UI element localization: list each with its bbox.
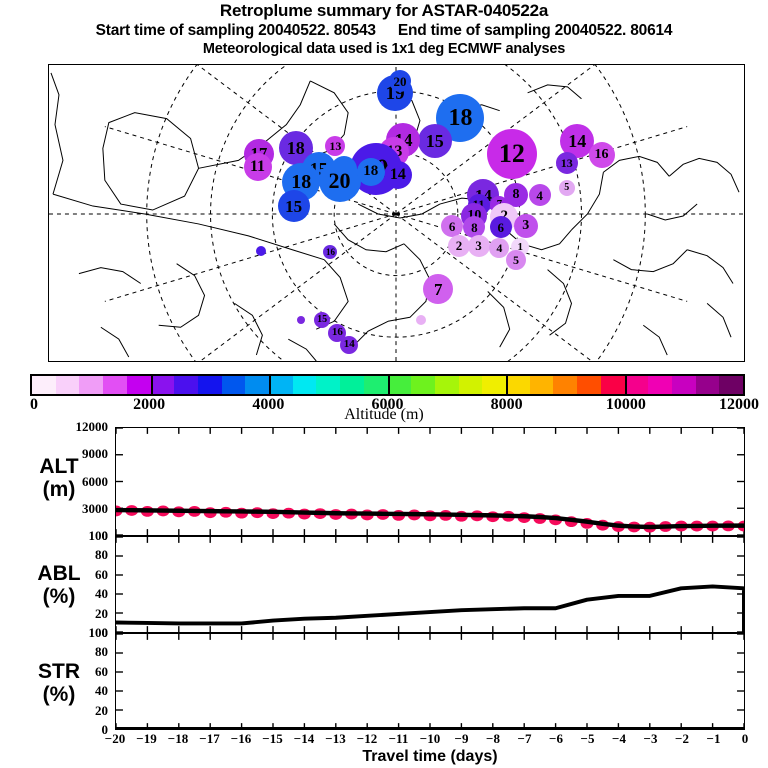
retroplume-bubble: 14 [340,336,358,354]
retroplume-bubble-label: 15 [285,198,302,215]
retroplume-bubble-label: 14 [344,339,355,350]
retroplume-bubble: 3 [514,214,538,238]
retroplume-bubble: 15 [314,312,330,328]
x-tick-label: −3 [644,731,658,747]
x-tick-label: −11 [389,731,409,747]
x-tick-label: −18 [168,731,188,747]
x-tick-label: −9 [455,731,469,747]
retroplume-bubble-label: 16 [326,248,335,257]
retroplume-bubble: 13 [325,136,345,156]
colorbar-segment [245,376,269,394]
colorbar-divider [269,376,271,394]
retroplume-bubble: 15 [418,124,452,158]
colorbar-segment [340,376,364,394]
retroplume-bubble: 11 [244,153,272,181]
sampling-time-line: Start time of sampling 20040522. 80543En… [0,21,768,40]
colorbar-axis-title: Altitude (m) [0,406,768,424]
colorbar-segment [553,376,577,394]
retroplume-bubble: 16 [589,142,615,168]
retroplume-bubble: 18 [357,158,385,186]
x-tick-label: −7 [518,731,532,747]
retroplume-bubble: 15 [278,190,310,222]
x-tick-label: −8 [486,731,500,747]
colorbar-segment [269,376,293,394]
abl-timeseries-plot[interactable] [115,536,745,633]
y-tick-label: 0 [48,722,108,738]
retroplume-bubble-label: 8 [513,188,520,202]
str-timeseries-plot[interactable] [115,633,745,730]
y-tick-label: 9000 [48,446,108,462]
retroplume-bubble-label: 4 [496,242,502,254]
colorbar-segment [293,376,317,394]
retroplume-bubble: 7 [423,274,453,304]
retroplume-bubble-label: 8 [471,221,478,234]
x-axis-title: Travel time (days) [115,748,745,766]
start-time-label: Start time of sampling 20040522. 80543 [96,22,376,39]
retroplume-bubble-label: 16 [595,148,609,162]
colorbar-segment [435,376,459,394]
y-tick-label: 80 [48,644,108,660]
retroplume-bubble: 6 [490,216,512,238]
retroplume-bubble-label: 13 [561,157,573,169]
figure-title: Retroplume summary for ASTAR-040522a [0,0,768,21]
x-tick-label: −2 [675,731,689,747]
retroplume-bubble [416,315,426,325]
colorbar-segment [459,376,483,394]
retroplume-bubble-label: 13 [329,140,341,152]
colorbar-segment [696,376,720,394]
meteorology-label: Meteorological data used is 1x1 deg ECMW… [0,40,768,58]
retroplume-bubble: 12 [487,129,537,179]
y-tick-label: 6000 [48,474,108,490]
colorbar-segment [127,376,151,394]
colorbar-segment [56,376,80,394]
x-tick-label: −12 [357,731,377,747]
retroplume-bubble: 5 [559,180,575,196]
x-tick-label: −13 [325,731,345,747]
retroplume-bubble: 16 [323,245,337,259]
colorbar-segment [530,376,554,394]
retroplume-bubble-label: 15 [426,132,444,150]
retroplume-bubble-label: 20 [329,170,351,192]
retroplume-bubble: 4 [529,184,551,206]
y-tick-label: 80 [48,547,108,563]
colorbar-segment [482,376,506,394]
colorbar-segment [672,376,696,394]
figure-header: Retroplume summary for ASTAR-040522a Sta… [0,0,768,58]
retroplume-bubble-label: 7 [434,281,443,298]
retroplume-bubble-label: 15 [317,315,327,325]
retroplume-bubble: 20 [319,160,361,202]
retroplume-bubble-label: 14 [568,132,586,150]
colorbar-segment [103,376,127,394]
x-tick-label: −15 [262,731,282,747]
retroplume-bubble-label: 6 [449,220,456,233]
colorbar-segment [364,376,388,394]
retroplume-bubble-label: 11 [250,159,265,175]
x-tick-label: −5 [581,731,595,747]
y-tick-label: 12000 [48,419,108,435]
colorbar-divider [388,376,390,394]
y-tick-label: 20 [48,703,108,719]
retroplume-bubble: 13 [556,152,578,174]
x-tick-label: −6 [549,731,563,747]
colorbar-segment [648,376,672,394]
colorbar-divider [625,376,627,394]
retroplume-bubble-label: 14 [390,167,406,183]
colorbar-segment [388,376,412,394]
retroplume-bubble: 3 [468,235,490,257]
colorbar-divider [506,376,508,394]
colorbar-segment [719,376,743,394]
colorbar-segment [625,376,649,394]
retroplume-bubble [297,316,305,324]
x-tick-label: −10 [420,731,440,747]
y-tick-label: 60 [48,664,108,680]
colorbar-segment [411,376,435,394]
colorbar-segment [32,376,56,394]
retroplume-bubble-label: 16 [332,327,343,338]
retroplume-bubble: 5 [506,250,526,270]
x-tick-label: 0 [742,731,749,747]
colorbar-segment [151,376,175,394]
y-tick-label: 20 [48,606,108,622]
retroplume-bubble-label: 5 [564,183,569,193]
x-tick-label: −4 [612,731,626,747]
retroplume-bubble-label: 5 [513,254,519,266]
retroplume-bubble-label: 18 [363,164,378,179]
colorbar-segment [198,376,222,394]
retroplume-bubble: 14 [384,161,412,189]
retroplume-map[interactable]: 1920181514131214161318131711201414845117… [48,64,745,362]
colorbar-segment [79,376,103,394]
retroplume-bubble: 20 [389,70,411,92]
retroplume-bubble-label: 18 [291,172,311,192]
y-tick-label: 60 [48,567,108,583]
retroplume-bubble-label: 18 [448,106,472,130]
colorbar-segment [506,376,530,394]
retroplume-bubble-label: 4 [536,189,543,202]
colorbar-segment [174,376,198,394]
y-tick-label: 3000 [48,501,108,517]
altitude-timeseries-plot[interactable] [115,427,745,536]
retroplume-bubble-label: 2 [456,239,463,252]
altitude-colorbar [30,374,745,396]
retroplume-bubble-label: 3 [522,219,529,233]
end-time-label: End time of sampling 20040522. 80614 [398,22,673,39]
retroplume-bubble-label: 12 [499,141,525,167]
colorbar-segment [316,376,340,394]
y-tick-label: 100 [48,528,108,544]
x-tick-label: −14 [294,731,314,747]
retroplume-bubble-label: 20 [393,75,406,88]
colorbar-segment [601,376,625,394]
y-tick-label: 40 [48,683,108,699]
x-tick-label: −19 [136,731,156,747]
colorbar-divider [151,376,153,394]
y-tick-label: 100 [48,625,108,641]
retroplume-bubble-label: 3 [475,239,482,252]
retroplume-bubble [256,246,266,256]
colorbar-segment [222,376,246,394]
x-tick-label: −16 [231,731,251,747]
retroplume-bubble-label: 6 [498,221,505,234]
retroplume-bubble-label: 18 [287,139,305,157]
y-tick-label: 40 [48,586,108,602]
colorbar-segment [577,376,601,394]
x-tick-label: −1 [707,731,721,747]
x-tick-label: −17 [199,731,219,747]
